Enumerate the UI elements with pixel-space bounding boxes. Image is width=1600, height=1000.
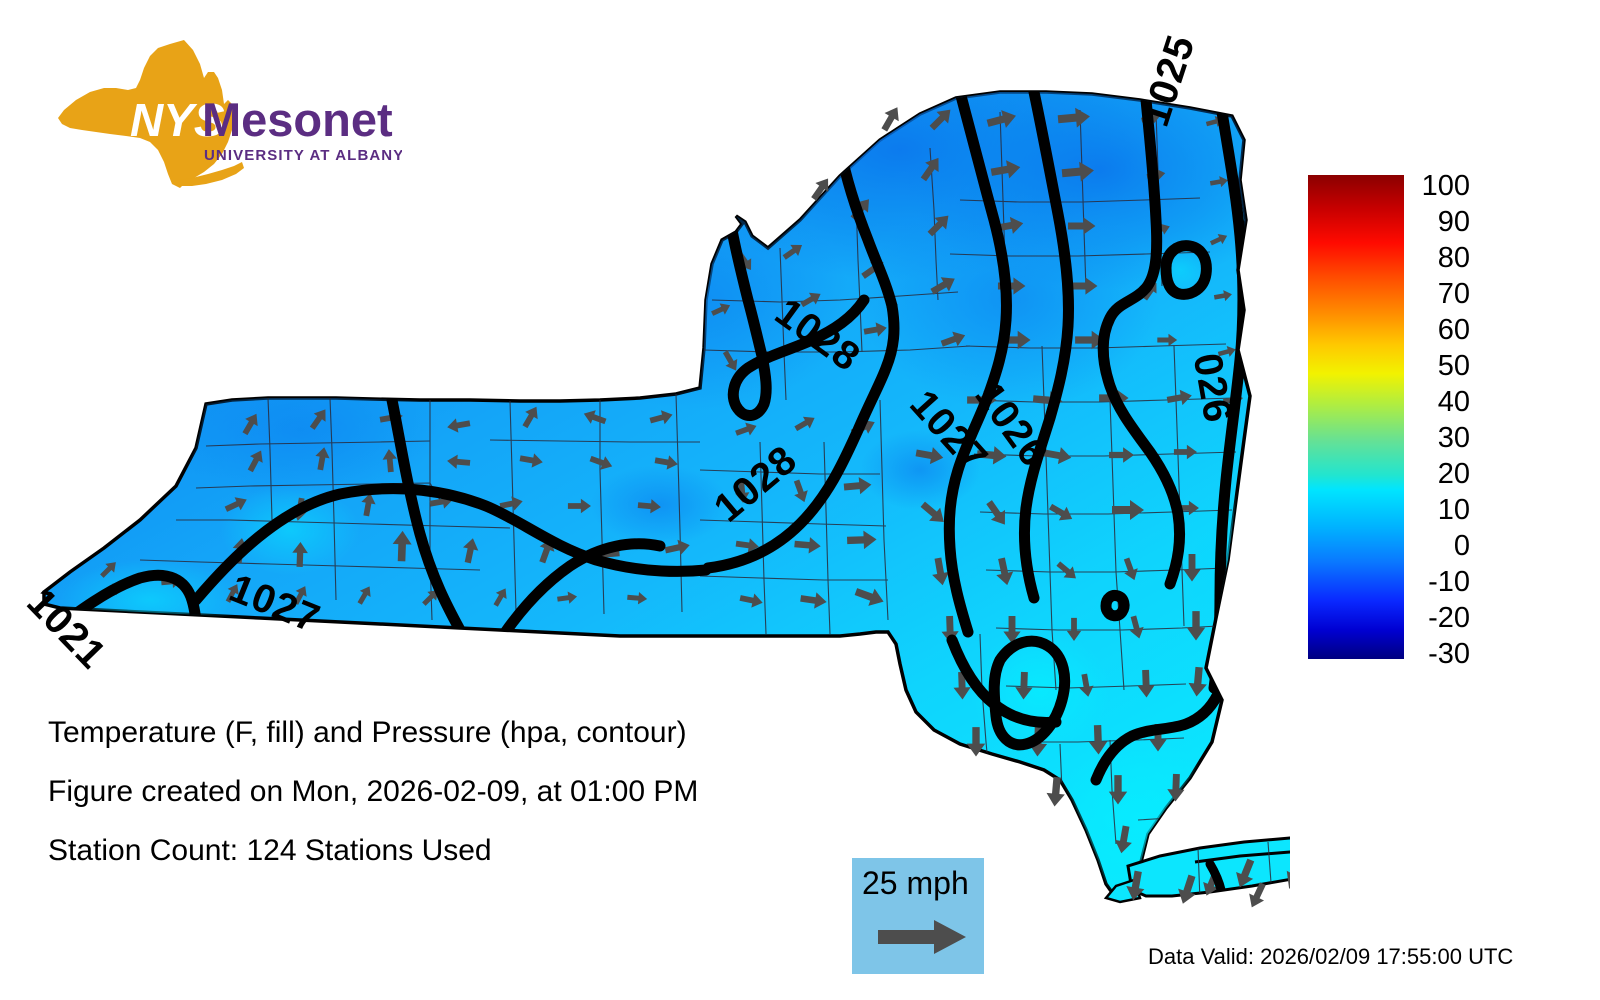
caption-station-count: Station Count: 124 Stations Used (48, 836, 868, 866)
wind-arrow-icon (878, 920, 966, 954)
colorbar-tick: 10 (1438, 496, 1470, 525)
temperature-colorbar: 100 90 80 70 60 50 40 30 20 10 0 -10 -20… (1300, 168, 1470, 668)
data-valid-timestamp: Data Valid: 2026/02/09 17:55:00 UTC (1148, 944, 1513, 970)
wind-legend-label: 25 mph (862, 865, 969, 902)
colorbar-tick: 40 (1438, 388, 1470, 417)
colorbar-tick: 60 (1438, 316, 1470, 345)
colorbar-gradient (1308, 175, 1404, 659)
caption-title: Temperature (F, fill) and Pressure (hpa,… (48, 718, 868, 748)
colorbar-tick: 30 (1438, 424, 1470, 453)
logo-subtitle: UNIVERSITY AT ALBANY (204, 147, 402, 164)
colorbar-tick: 50 (1438, 352, 1470, 381)
colorbar-tick: 20 (1438, 460, 1470, 489)
figure-caption: Temperature (F, fill) and Pressure (hpa,… (48, 718, 868, 895)
colorbar-tick: 70 (1438, 280, 1470, 309)
colorbar-tick-labels: 100 90 80 70 60 50 40 30 20 10 0 -10 -20… (1412, 168, 1470, 666)
wind-speed-legend: 25 mph (852, 858, 984, 974)
colorbar-tick: 80 (1438, 244, 1470, 273)
caption-created: Figure created on Mon, 2026-02-09, at 01… (48, 777, 868, 807)
colorbar-tick: -20 (1428, 604, 1470, 633)
colorbar-tick: -30 (1428, 640, 1470, 669)
colorbar-tick: 0 (1454, 532, 1470, 561)
colorbar-tick: 100 (1422, 172, 1470, 201)
logo-brand-text: Mesonet (202, 93, 393, 146)
colorbar-tick: -10 (1428, 568, 1470, 597)
nys-mesonet-logo: NYS Mesonet UNIVERSITY AT ALBANY (52, 38, 402, 188)
colorbar-tick: 90 (1438, 208, 1470, 237)
